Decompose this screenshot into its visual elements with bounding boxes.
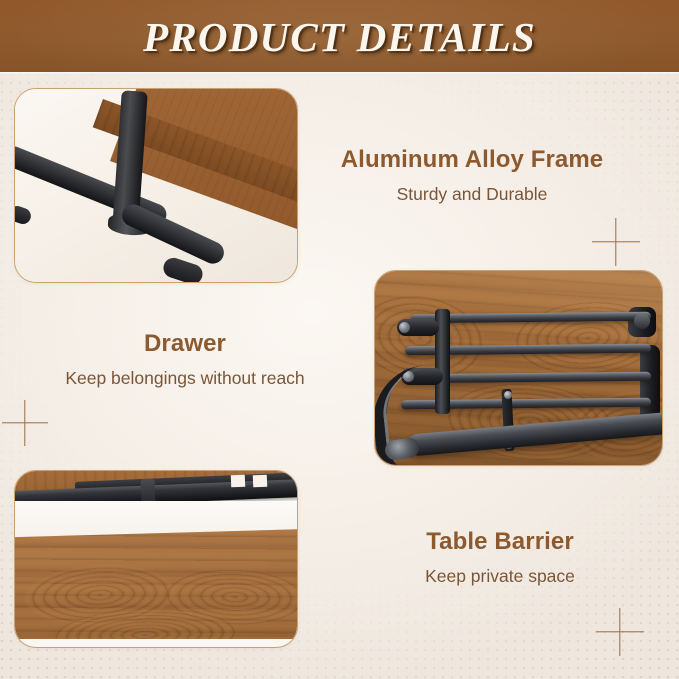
plus-mark-icon: [592, 218, 640, 266]
product-details-infographic: PRODUCT DETAILS: [0, 0, 679, 679]
feature-caption-table-barrier: Table Barrier Keep private space: [350, 528, 650, 587]
feature-caption-drawer: Drawer Keep belongings without reach: [30, 330, 340, 389]
feature-subtitle: Keep private space: [350, 566, 650, 587]
screw-head: [504, 391, 512, 399]
feature-subtitle: Keep belongings without reach: [30, 368, 340, 389]
plus-mark-icon: [596, 608, 644, 656]
header-underline: [0, 72, 679, 75]
rail-slot: [634, 313, 650, 329]
rail-end-cap: [640, 345, 660, 421]
page-title: PRODUCT DETAILS: [143, 13, 536, 61]
header-banner: PRODUCT DETAILS: [0, 0, 679, 72]
plus-mark-icon: [2, 400, 48, 446]
drawer-rail-slot: [253, 475, 267, 488]
photo-bottom-gap: [15, 639, 297, 647]
feature-caption-aluminum-alloy-frame: Aluminum Alloy Frame Sturdy and Durable: [317, 146, 627, 205]
feature-title: Table Barrier: [350, 528, 650, 556]
feature-image-aluminum-alloy-frame: [14, 88, 298, 283]
feature-subtitle: Sturdy and Durable: [317, 184, 627, 205]
feature-title: Aluminum Alloy Frame: [317, 146, 627, 174]
bolt-head: [399, 322, 410, 333]
feature-image-drawer: [14, 470, 298, 648]
feature-image-table-barrier: [374, 270, 663, 466]
drawer-rail-slot: [231, 475, 245, 488]
feature-title: Drawer: [30, 330, 340, 358]
